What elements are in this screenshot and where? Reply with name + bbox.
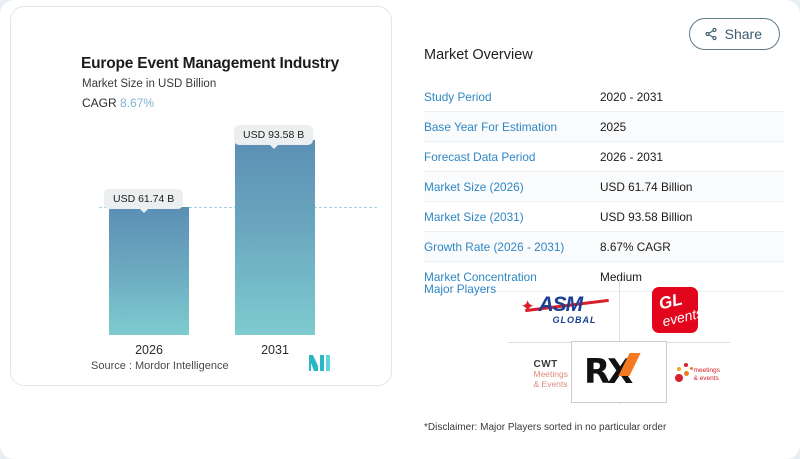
bar-2031[interactable] [235,140,315,335]
chart-card: Europe Event Management Industry Market … [10,6,392,386]
asm-global-logo-icon: ✦ ASM GLOBAL [517,290,611,330]
row-key[interactable]: Study Period [424,90,600,104]
x-axis-label-2026: 2026 [109,343,189,357]
bcd-subtext: meetings & events [694,367,720,383]
asm-wordmark: ASM [539,293,583,317]
row-value: 2026 - 2031 [600,150,663,164]
star-icon: ✦ [521,298,535,315]
row-value: USD 61.74 Billion [600,180,692,194]
overview-table: Study Period 2020 - 2031 Base Year For E… [424,82,784,292]
major-players-logo-grid: ✦ ASM GLOBAL GL events CWT Meetings & E [508,278,730,406]
major-players-label[interactable]: Major Players [424,282,496,296]
table-row: Market Size (2031) USD 93.58 Billion [424,202,784,232]
bcd-dots-icon [673,362,695,382]
row-key[interactable]: Forecast Data Period [424,150,600,164]
row-value: 2025 [600,120,626,134]
rx-logo-icon: RX [584,352,654,392]
row-key[interactable]: Growth Rate (2026 - 2031) [424,240,600,254]
row-key[interactable]: Base Year For Estimation [424,120,600,134]
bar-label-2026: USD 61.74 B [104,189,183,209]
disclaimer-text: *Disclaimer: Major Players sorted in no … [424,422,666,433]
table-row: Study Period 2020 - 2031 [424,82,784,112]
x-axis-label-2031: 2031 [235,343,315,357]
market-overview-title: Market Overview [424,47,533,63]
player-logo-asm-global: ✦ ASM GLOBAL [508,278,619,342]
row-value: 2020 - 2031 [600,90,663,104]
bar-label-2031: USD 93.58 B [234,125,313,145]
bar-2026[interactable] [109,207,189,335]
gl-events-logo-icon: GL events [652,287,698,333]
asm-global-subtext: GLOBAL [553,315,597,325]
row-value: USD 93.58 Billion [600,210,692,224]
table-row: Growth Rate (2026 - 2031) 8.67% CAGR [424,232,784,262]
source-text: Source : Mordor Intelligence [91,360,229,372]
player-logo-rx: RX [571,341,667,403]
row-key[interactable]: Market Size (2031) [424,210,600,224]
row-value: 8.67% CAGR [600,240,671,254]
table-row: Forecast Data Period 2026 - 2031 [424,142,784,172]
table-row: Market Size (2026) USD 61.74 Billion [424,172,784,202]
bar-chart-plot: USD 61.74 B USD 93.58 B 2026 2031 [11,7,393,387]
table-row: Base Year For Estimation 2025 [424,112,784,142]
market-overview-panel: Market Overview Study Period 2020 - 2031… [424,0,790,459]
mordor-intelligence-logo-icon [309,355,333,376]
report-page: Share Europe Event Management Industry M… [0,0,800,459]
player-logo-gl-events: GL events [619,278,730,342]
row-key[interactable]: Market Size (2026) [424,180,600,194]
